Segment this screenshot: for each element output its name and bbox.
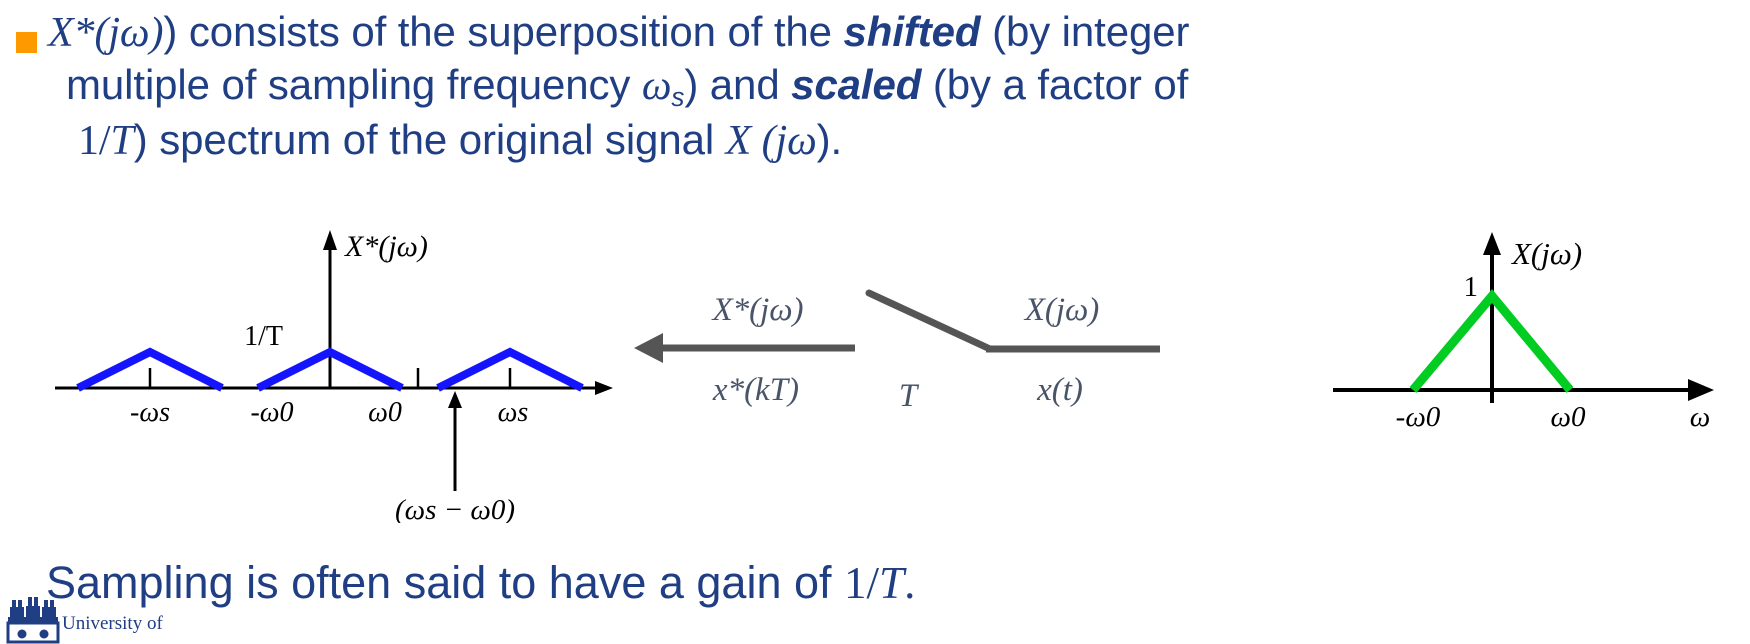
bullet-line2-omega: ω: [642, 63, 672, 109]
bullet-block: X*(jω)) consists of the superposition of…: [8, 6, 1740, 167]
bullet-line1-math-close: ): [149, 10, 163, 56]
bullet-line3-jopen: (j: [751, 118, 787, 164]
left-chart-axis-label: X*(jω): [344, 230, 428, 263]
bullet-line2-text-a: multiple of sampling frequency: [66, 61, 642, 108]
left-chart-xtick-label-0: -ωs: [130, 397, 170, 428]
sampler-switch-label: T: [899, 378, 920, 414]
bullet-line1-text-b: ) consists of the superposition of the: [163, 8, 843, 55]
logo-caption: University of: [62, 614, 163, 633]
bullet-paragraph: X*(jω)) consists of the superposition of…: [48, 6, 1740, 167]
bullet-line3: 1/T) spectrum of the original signal X (…: [48, 114, 1740, 167]
bullet-line2-omega-sub: s: [671, 82, 684, 112]
right-chart-axis-label: X(jω): [1510, 236, 1582, 271]
right-chart-x-axis-label: ω: [1690, 401, 1710, 433]
original-spectrum-chart: X(jω) 1 -ω0 ω0 ω: [1333, 232, 1714, 433]
bullet-line1-math-a: X*(j: [48, 10, 120, 56]
left-chart-xtick-label-1: -ω0: [250, 397, 293, 428]
sampler-top-left-label: X*(jω): [710, 292, 803, 328]
left-chart-annotation: (ωs − ω0): [395, 494, 515, 523]
bullet-line1-omega: ω: [120, 10, 150, 56]
bullet-line1-text-c: (by integer: [981, 8, 1190, 55]
figure-group: X*(jω) 1/T -ωs -ω0 ω0 ωs (ωs − ω0): [0, 228, 1750, 523]
bullet-square-icon: [16, 32, 37, 53]
bullet-line3-omega: ω: [787, 118, 817, 164]
left-chart-y-arrow-icon: [323, 230, 337, 250]
right-chart-xtick-label-1: ω0: [1551, 401, 1586, 433]
right-chart-y-arrow-icon: [1483, 232, 1501, 255]
bullet-line2-text-c: (by a factor of: [921, 61, 1188, 108]
university-castle-logo: University of: [6, 596, 306, 644]
summary-fraction-T: T: [879, 558, 904, 608]
bullet-line1-emphasis-shifted: shifted: [844, 8, 981, 55]
bullet-line2-emphasis-scaled: scaled: [791, 61, 921, 108]
sampler-top-right-label: X(jω): [1023, 292, 1100, 328]
sampler-switch-blade: [869, 293, 990, 349]
summary-fraction-num: 1/: [844, 558, 879, 608]
sampler-switch-diagram: X*(jω) x*(kT) T X(jω) x(t): [634, 292, 1160, 414]
sampler-bottom-right-label: x(t): [1036, 372, 1083, 408]
left-chart-xtick-label-3: ωs: [498, 397, 529, 428]
bullet-line2: multiple of sampling frequency ωs) and s…: [48, 59, 1740, 114]
bullet-line2-text-b: ) and: [684, 61, 791, 108]
right-chart-xtick-label-0: -ω0: [1396, 401, 1441, 433]
right-chart-y-value-label: 1: [1464, 271, 1479, 303]
bullet-line3-T: T: [110, 118, 133, 164]
bullet-line3-text-d: ).: [817, 116, 842, 163]
slide-canvas: X*(jω)) consists of the superposition of…: [0, 0, 1750, 644]
bullet-line3-text-b: ) spectrum of the original signal: [134, 116, 726, 163]
summary-period: .: [904, 558, 915, 608]
right-chart-x-arrow-icon: [1688, 379, 1714, 401]
bullet-line3-X: X: [726, 118, 752, 164]
castle-icon: [6, 596, 66, 644]
left-chart-y-value-label: 1/T: [244, 321, 283, 352]
sampled-spectrum-chart: X*(jω) 1/T -ωs -ω0 ω0 ωs (ωs − ω0): [55, 230, 613, 523]
bullet-line3-num: 1/: [78, 118, 110, 164]
left-chart-x-arrow-icon: [595, 381, 613, 395]
left-chart-xtick-label-2: ω0: [368, 397, 402, 428]
sampler-left-arrow-icon: [634, 333, 663, 363]
sampler-bottom-left-label: x*(kT): [712, 372, 799, 408]
left-chart-callout-arrow-icon: [448, 391, 462, 408]
